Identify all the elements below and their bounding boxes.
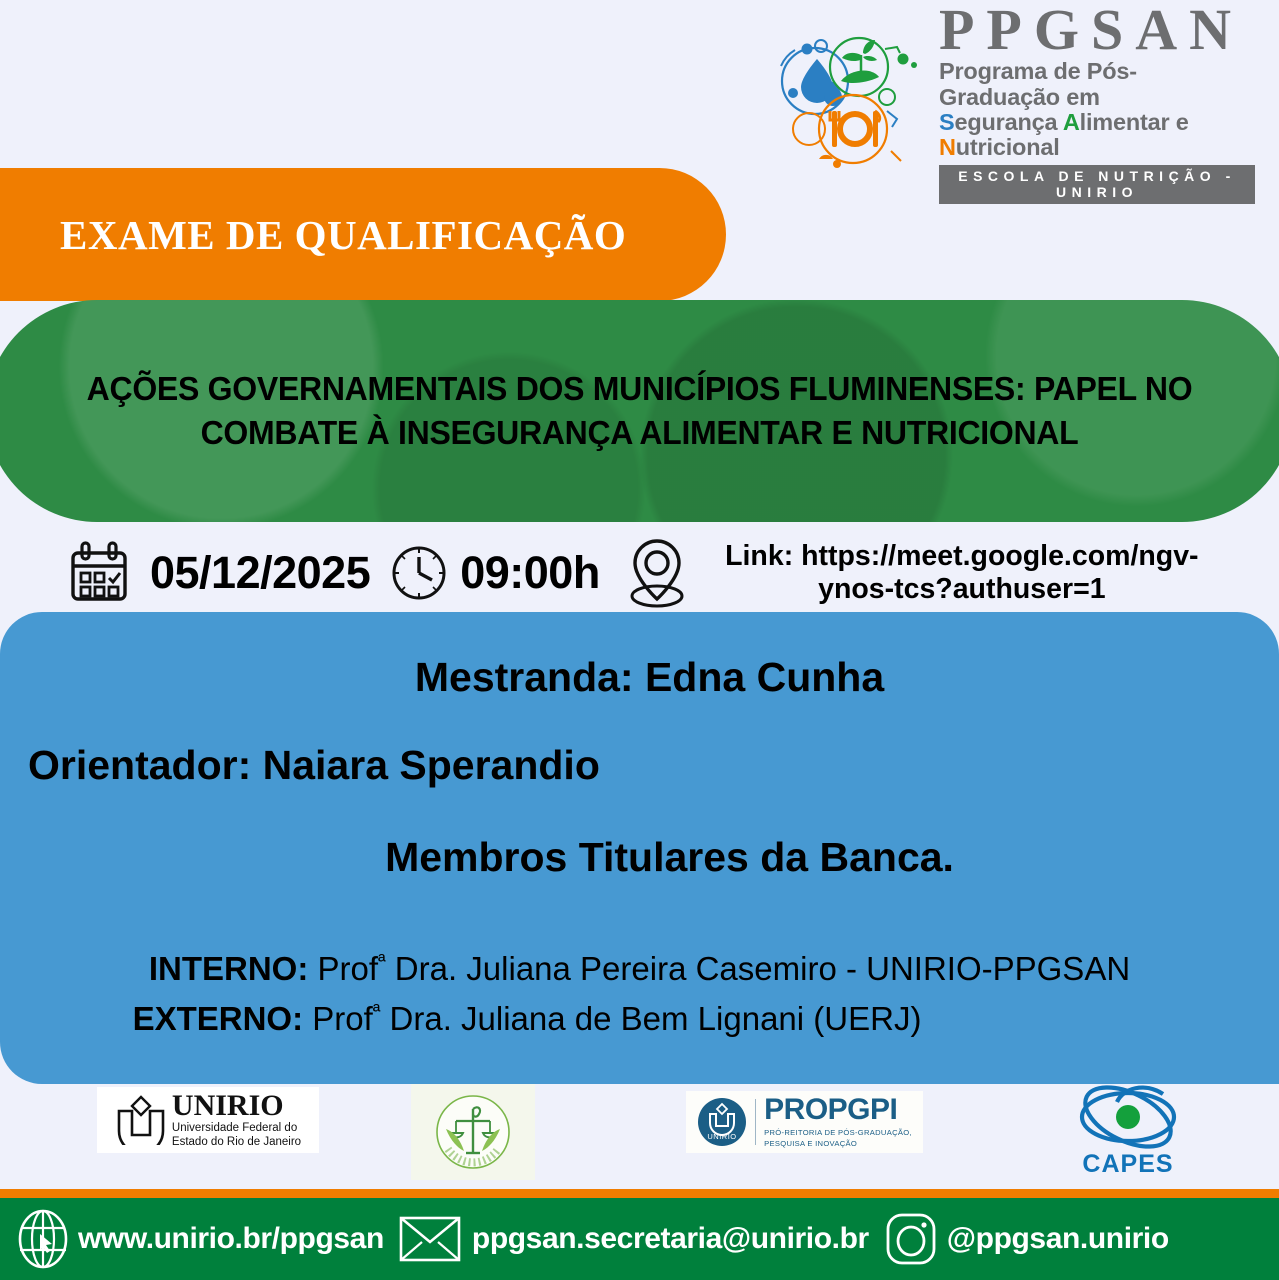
escola-nutricao-seal-icon [430, 1089, 516, 1175]
external-label: EXTERNO: [133, 1000, 304, 1037]
ppgsan-n: N [939, 134, 956, 160]
propgpi-sub-line2: PESQUISA E INOVAÇÃO [764, 1139, 912, 1149]
event-time-value: 09:00h [460, 547, 600, 599]
unirio-name-line1: Universidade Federal do [172, 1121, 301, 1135]
internal-label: INTERNO: [149, 950, 309, 987]
envelope-icon [398, 1213, 462, 1265]
propgpi-mark-icon: UNIRIO [697, 1097, 747, 1147]
event-date: 05/12/2025 [62, 536, 370, 610]
ppgsan-acronym: PPGSAN [939, 2, 1255, 57]
exam-type-badge: EXAME DE QUALIFICAÇÃO [0, 168, 726, 301]
thesis-title-banner: AÇÕES GOVERNAMENTAIS DOS MUNICÍPIOS FLUM… [0, 300, 1279, 522]
committee-external-row: EXTERNO: Profª Dra. Juliana de Bem Ligna… [0, 1000, 1279, 1038]
unirio-mark-icon [115, 1095, 167, 1145]
footer-website[interactable]: www.unirio.br/ppgsan [14, 1208, 384, 1270]
ppgsan-a: A [1063, 109, 1080, 135]
footer-instagram-text[interactable]: @ppgsan.unirio [947, 1222, 1169, 1256]
ppgsan-nutricional: utricional [956, 134, 1060, 160]
event-link[interactable]: Link: https://meet.google.com/ngv-ynos-t… [622, 533, 1222, 613]
unirio-wordmark: UNIRIO [172, 1091, 301, 1121]
student-line: Mestranda: Edna Cunha [0, 654, 1279, 701]
capes-logo: CAPES [1063, 1084, 1193, 1180]
footer-website-text[interactable]: www.unirio.br/ppgsan [78, 1222, 384, 1256]
external-value: Dra. Juliana de Bem Lignani (UERJ) [380, 1000, 921, 1037]
ppgsan-s: S [939, 109, 954, 135]
unirio-name-line2: Estado do Rio de Janeiro [172, 1135, 301, 1149]
propgpi-logo: UNIRIO PROPGPI PRÓ-REITORIA DE PÓS-GRADU… [686, 1091, 923, 1153]
committee-heading: Membros Titulares da Banca. [0, 834, 1279, 881]
advisor-line: Orientador: Naiara Sperandio [28, 742, 600, 789]
capes-mark-icon [1063, 1084, 1193, 1150]
footer-email-text[interactable]: ppgsan.secretaria@unirio.br [472, 1222, 869, 1256]
footer-instagram[interactable]: @ppgsan.unirio [883, 1210, 1169, 1268]
propgpi-wordmark: PROPGPI [764, 1095, 912, 1125]
meeting-link[interactable]: Link: https://meet.google.com/ngv-ynos-t… [702, 540, 1222, 606]
internal-sup: ª [378, 950, 386, 973]
event-meta-row: 05/12/2025 09:00h [0, 528, 1279, 618]
ppgsan-logo-icons [775, 33, 927, 173]
ppgsan-school-strip: ESCOLA DE NUTRIÇÃO - UNIRIO [939, 165, 1255, 204]
ppgsan-logo: PPGSAN Programa de Pós-Graduação em Segu… [775, 28, 1255, 178]
unirio-logo: UNIRIO Universidade Federal do Estado do… [97, 1087, 319, 1153]
ppgsan-subject-line: Segurança Alimentar e Nutricional [939, 110, 1255, 161]
globe-icon [14, 1208, 72, 1270]
participants-section: Mestranda: Edna Cunha Orientador: Naiara… [0, 612, 1279, 1084]
footer-accent-bar [0, 1189, 1279, 1198]
footer-email[interactable]: ppgsan.secretaria@unirio.br [398, 1213, 869, 1265]
exam-type-label: EXAME DE QUALIFICAÇÃO [60, 211, 626, 259]
clock-icon [388, 542, 450, 604]
event-time: 09:00h [388, 542, 600, 604]
footer-contact-bar: www.unirio.br/ppgsan ppgsan.secretaria@u… [0, 1198, 1279, 1280]
institution-logos: UNIRIO Universidade Federal do Estado do… [0, 1084, 1279, 1189]
propgpi-sub-line1: PRÓ-REITORIA DE PÓS-GRADUAÇÃO, [764, 1128, 912, 1138]
committee-internal-row: INTERNO: Profª Dra. Juliana Pereira Case… [0, 950, 1279, 988]
ppgsan-program-line: Programa de Pós-Graduação em [939, 59, 1255, 110]
instagram-icon [883, 1210, 939, 1268]
svg-text:UNIRIO: UNIRIO [708, 1132, 737, 1141]
internal-prefix: Prof [318, 950, 379, 987]
ppgsan-alimentar: limentar e [1080, 109, 1189, 135]
ppgsan-seguranca: egurança [954, 109, 1062, 135]
capes-wordmark: CAPES [1063, 1150, 1193, 1179]
internal-value: Dra. Juliana Pereira Casemiro - UNIRIO-P… [386, 950, 1131, 987]
calendar-icon [62, 536, 136, 610]
location-pin-icon [622, 533, 692, 613]
external-prefix: Prof [312, 1000, 373, 1037]
escola-nutricao-seal [411, 1084, 535, 1180]
event-date-value: 05/12/2025 [150, 547, 370, 599]
page-title: AÇÕES GOVERNAMENTAIS DOS MUNICÍPIOS FLUM… [6, 367, 1274, 454]
